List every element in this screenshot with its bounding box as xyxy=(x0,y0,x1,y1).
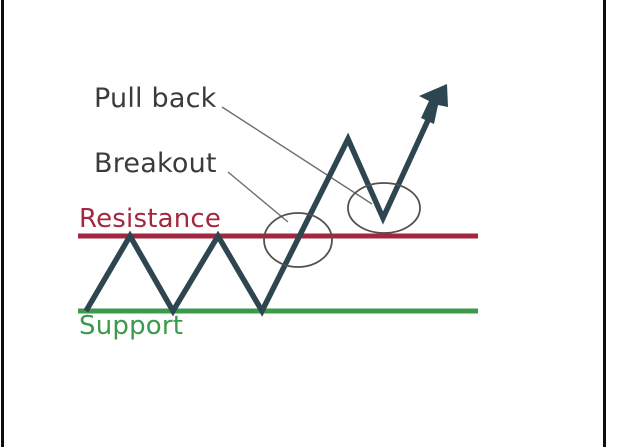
leader-line-pullback xyxy=(222,107,372,204)
leader-line-breakout xyxy=(228,172,288,222)
trend-arrow-icon xyxy=(419,84,448,124)
resistance-level-label: Resistance xyxy=(79,204,221,234)
pullback-highlight-ellipse xyxy=(348,183,420,233)
support-level-label: Support xyxy=(79,311,183,341)
annotation-label-pullback: Pull back xyxy=(94,83,216,114)
diagram-canvas: Pull back Breakout Resistance Support xyxy=(0,0,628,447)
annotation-label-breakout: Breakout xyxy=(94,148,217,179)
